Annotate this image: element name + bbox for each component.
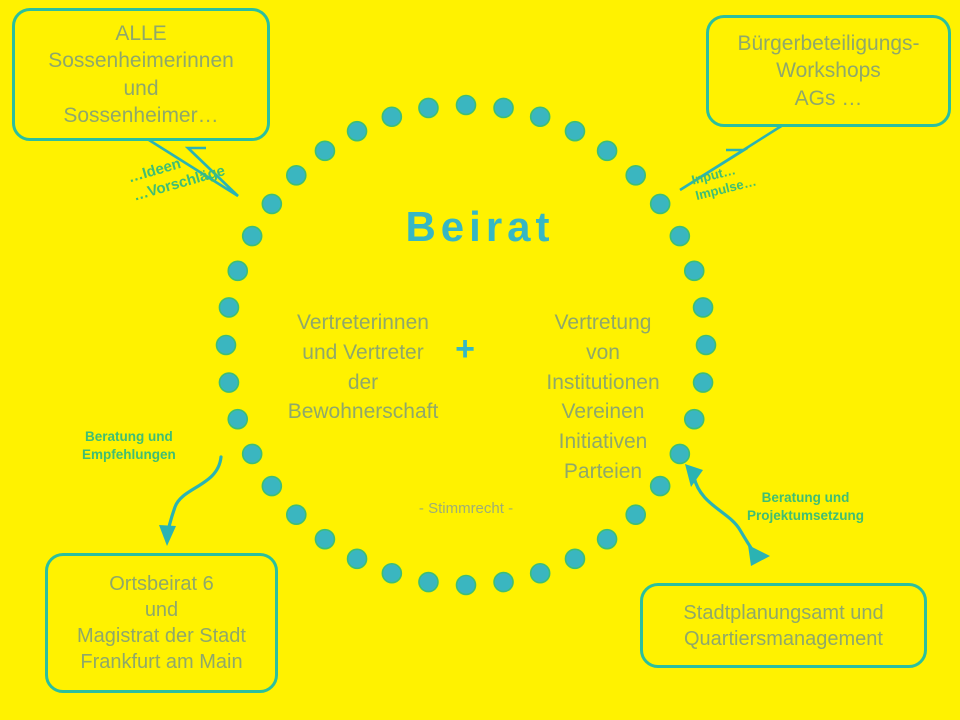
center-right-line: Vereinen — [486, 397, 720, 427]
arrow-label-line: Projektumsetzung — [747, 507, 864, 525]
center-right-line: Parteien — [486, 457, 720, 487]
diagram-canvas: ALLE Sossenheimerinnen und Sossenheimer…… — [0, 0, 960, 720]
page-title-beirat: Beirat — [0, 203, 960, 251]
center-content: Beirat Vertreterinnen und Vertreter der … — [0, 0, 960, 720]
center-left-line: Bewohnerschaft — [246, 397, 480, 427]
arrow-label-beratung-empfehlungen: Beratung und Empfehlungen — [82, 428, 176, 464]
center-right-line: von — [486, 338, 720, 368]
arrow-label-beratung-projektumsetzung: Beratung und Projektumsetzung — [747, 489, 864, 525]
arrow-label-line: Empfehlungen — [82, 446, 176, 464]
footnote-stimmrecht: - Stimmrecht - — [316, 500, 616, 517]
arrow-label-line: Beratung und — [747, 489, 864, 507]
center-left-line: der — [246, 368, 480, 398]
center-right-column: Vertretung von Institutionen Vereinen In… — [486, 308, 720, 487]
center-right-line: Vertretung — [486, 308, 720, 338]
plus-symbol: + — [443, 330, 487, 369]
center-right-line: Initiativen — [486, 427, 720, 457]
center-right-line: Institutionen — [486, 368, 720, 398]
arrow-label-line: Beratung und — [82, 428, 176, 446]
